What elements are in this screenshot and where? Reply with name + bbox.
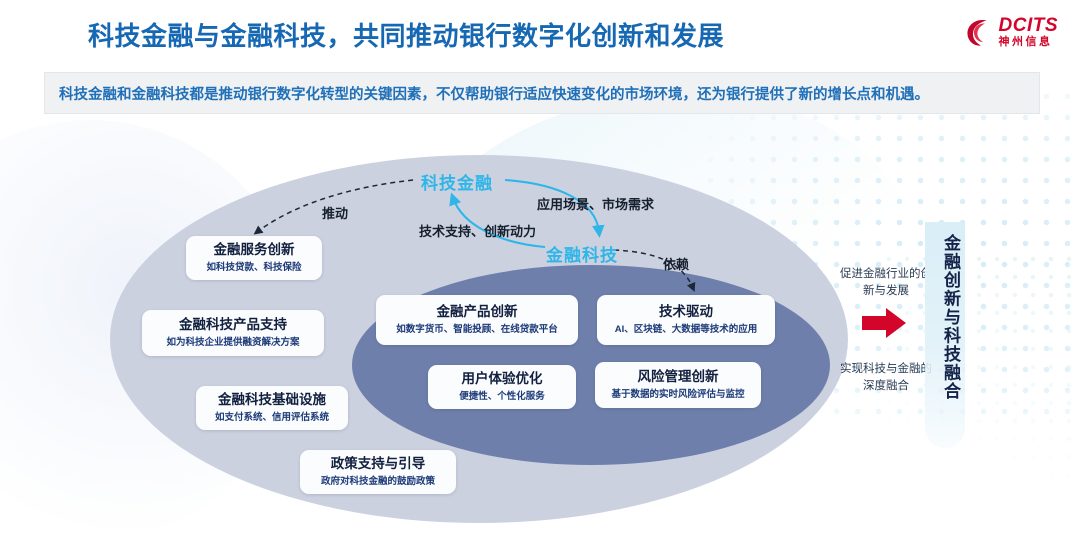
label-tech-support: 技术支持、创新动力 — [419, 221, 536, 240]
subtitle-banner: 科技金融和金融科技都是推动银行数字化转型的关键因素，不仅帮助银行适应快速变化的市… — [44, 72, 1040, 114]
card-title: 金融科技产品支持 — [179, 317, 287, 334]
card-risk-management-innovation[interactable]: 风险管理创新 基于数据的实时风险评估与监控 — [595, 362, 761, 408]
logo-wordmark: DCITS 神州信息 — [999, 16, 1059, 48]
logo-en-text: DCITS — [999, 16, 1059, 35]
card-title: 政策支持与引导 — [331, 456, 426, 473]
card-subtitle: 如数字货币、智能投顾、在线贷款平台 — [396, 324, 558, 335]
dcits-swirl-icon — [966, 17, 993, 47]
label-scene-demand: 应用场景、市场需求 — [537, 194, 654, 213]
card-title: 金融科技基础设施 — [218, 392, 326, 409]
slide-canvas: 科技金融与金融科技，共同推动银行数字化创新和发展 DCITS 神州信息 科技金融… — [0, 0, 1080, 540]
red-arrow-icon — [860, 306, 908, 340]
card-subtitle: 如科技贷款、科技保险 — [206, 262, 301, 273]
card-subtitle: 便捷性、个性化服务 — [459, 391, 545, 402]
card-fintech-infrastructure[interactable]: 金融科技基础设施 如支付系统、信用评估系统 — [196, 386, 348, 430]
card-title: 用户体验优化 — [462, 371, 543, 388]
right-note-bottom: 实现科技与金融的深度融合 — [838, 361, 934, 394]
card-title: 金融产品创新 — [437, 304, 518, 321]
label-tuidong: 推动 — [322, 203, 348, 222]
card-title: 金融服务创新 — [214, 242, 295, 259]
label-keji-jinrong: 科技金融 — [421, 169, 493, 194]
card-user-experience-optimization[interactable]: 用户体验优化 便捷性、个性化服务 — [428, 365, 576, 409]
right-note-top: 促进金融行业的创新与发展 — [838, 266, 934, 299]
card-title: 风险管理创新 — [638, 369, 719, 386]
subtitle-text: 科技金融和金融科技都是推动银行数字化转型的关键因素，不仅帮助银行适应快速变化的市… — [45, 83, 929, 104]
card-title: 技术驱动 — [659, 304, 713, 321]
card-financial-service-innovation[interactable]: 金融服务创新 如科技贷款、科技保险 — [186, 236, 322, 280]
card-subtitle: 政府对科技金融的鼓励政策 — [321, 476, 435, 487]
brand-logo: DCITS 神州信息 — [966, 16, 1059, 48]
vertical-headline-text: 金融创新与科技融合 — [931, 234, 959, 401]
card-financial-product-innovation[interactable]: 金融产品创新 如数字货币、智能投顾、在线贷款平台 — [376, 295, 578, 345]
card-subtitle: 如为科技企业提供融资解决方案 — [166, 337, 299, 348]
label-jinrong-keji: 金融科技 — [546, 241, 618, 266]
logo-cn-text: 神州信息 — [999, 37, 1059, 48]
card-fintech-product-support[interactable]: 金融科技产品支持 如为科技企业提供融资解决方案 — [142, 310, 324, 356]
card-subtitle: AI、区块链、大数据等技术的应用 — [615, 324, 758, 335]
card-technology-driven[interactable]: 技术驱动 AI、区块链、大数据等技术的应用 — [597, 295, 775, 345]
label-yilai: 依赖 — [663, 254, 689, 273]
card-subtitle: 如支付系统、信用评估系统 — [215, 412, 329, 423]
page-title: 科技金融与金融科技，共同推动银行数字化创新和发展 — [88, 16, 724, 53]
card-policy-support[interactable]: 政策支持与引导 政府对科技金融的鼓励政策 — [300, 450, 456, 494]
card-subtitle: 基于数据的实时风险评估与监控 — [611, 389, 744, 400]
